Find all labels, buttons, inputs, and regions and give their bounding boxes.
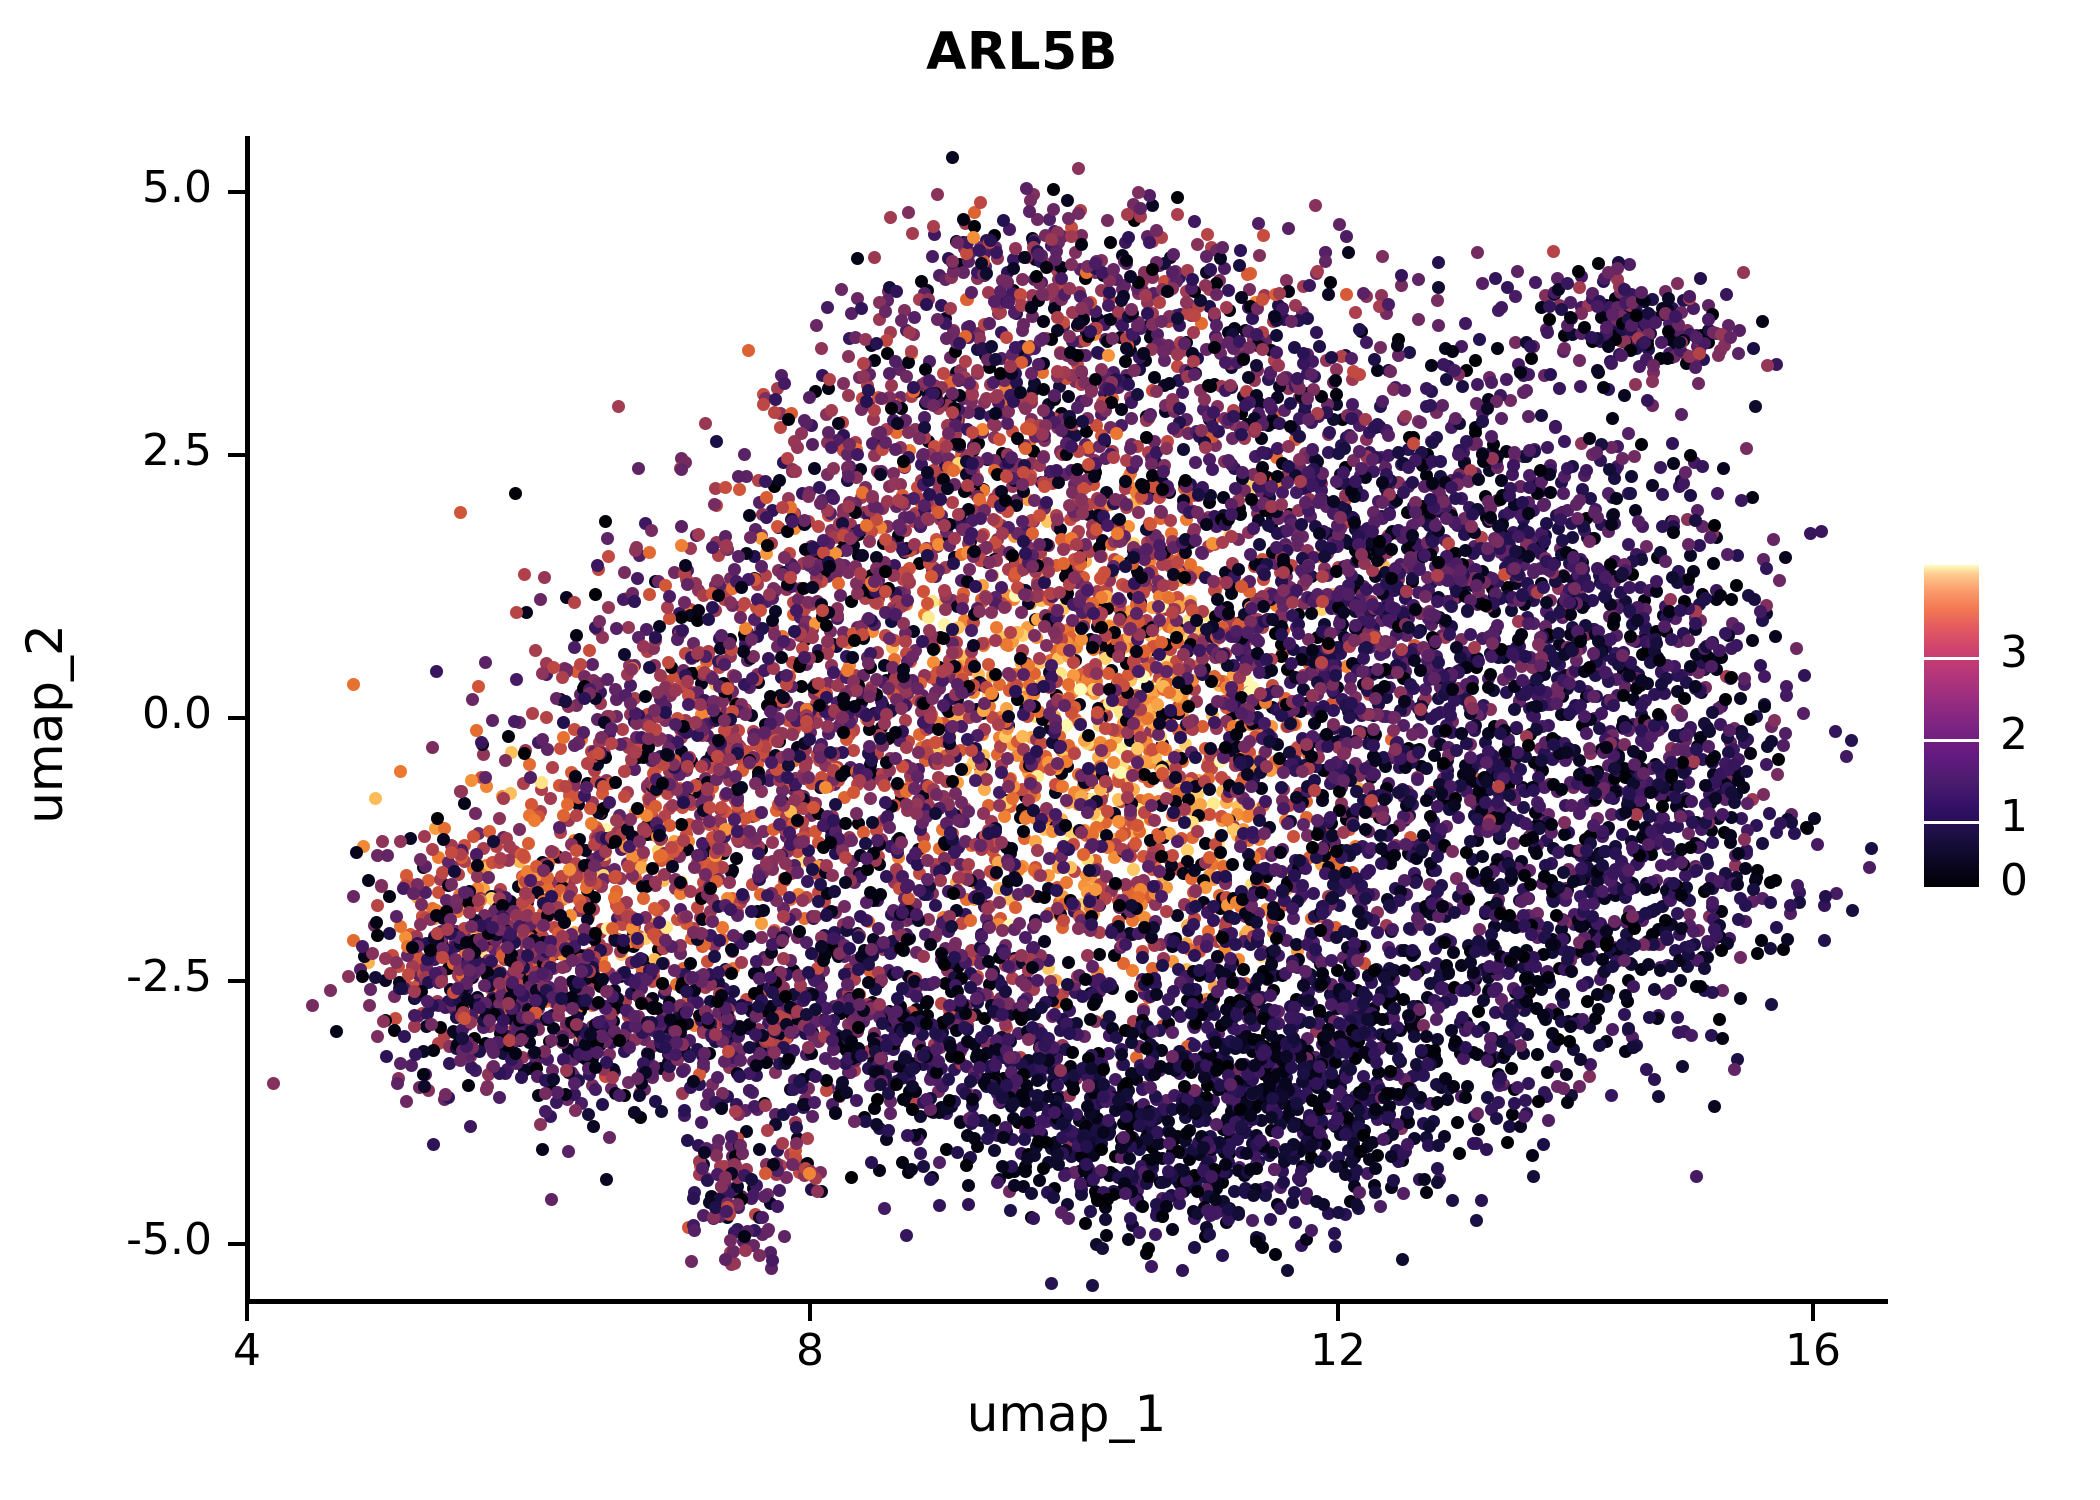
- scatter-point: [481, 1080, 494, 1093]
- scatter-point: [678, 1104, 691, 1117]
- scatter-point: [566, 1002, 579, 1015]
- scatter-point: [381, 849, 394, 862]
- scatter-point: [1006, 549, 1019, 562]
- scatter-point: [342, 970, 355, 983]
- scatter-point: [681, 760, 694, 773]
- scatter-point: [712, 842, 725, 855]
- scatter-point: [1129, 837, 1142, 850]
- scatter-point: [1215, 829, 1228, 842]
- scatter-point: [842, 916, 855, 929]
- scatter-point: [1034, 869, 1047, 882]
- scatter-point: [589, 927, 602, 940]
- scatter-point: [1068, 747, 1081, 760]
- scatter-point: [522, 937, 535, 950]
- scatter-point: [1013, 917, 1026, 930]
- scatter-point: [802, 1041, 815, 1054]
- scatter-point: [521, 949, 534, 962]
- scatter-point: [990, 621, 1003, 634]
- scatter-point: [839, 817, 852, 830]
- scatter-point: [727, 929, 740, 942]
- scatter-point: [559, 851, 572, 864]
- scatter-point: [589, 1061, 602, 1074]
- scatter-point: [929, 807, 942, 820]
- scatter-point: [684, 885, 697, 898]
- scatter-point: [648, 902, 661, 915]
- scatter-point: [961, 733, 974, 746]
- scatter-point: [577, 933, 590, 946]
- scatter-point: [819, 1014, 832, 1027]
- scatter-point: [427, 1138, 440, 1151]
- scatter-point: [347, 678, 360, 691]
- scatter-point: [1042, 565, 1055, 578]
- scatter-point: [730, 852, 743, 865]
- scatter-point: [465, 920, 478, 933]
- scatter-point: [511, 961, 524, 974]
- scatter-point: [779, 990, 792, 1003]
- scatter-point: [551, 1086, 564, 1099]
- scatter-point: [996, 527, 1009, 540]
- scatter-point: [391, 1077, 404, 1090]
- scatter-point: [394, 765, 407, 778]
- scatter-point: [847, 744, 860, 757]
- scatter-point: [1006, 792, 1019, 805]
- scatter-point: [712, 966, 725, 979]
- scatter-point: [580, 781, 593, 794]
- scatter-point: [1040, 496, 1053, 509]
- scatter-point: [835, 769, 848, 782]
- scatter-point: [782, 1053, 795, 1066]
- scatter-point: [1084, 1013, 1097, 1026]
- scatter-point: [977, 807, 990, 820]
- scatter-point: [749, 777, 762, 790]
- scatter-point: [733, 483, 746, 496]
- scatter-point: [1016, 515, 1029, 528]
- scatter-point: [687, 926, 700, 939]
- scatter-point: [377, 1015, 390, 1028]
- scatter-point: [865, 754, 878, 767]
- scatter-point: [487, 835, 500, 848]
- scatter-point: [383, 927, 396, 940]
- scatter-point: [487, 1060, 500, 1073]
- scatter-point: [825, 404, 838, 417]
- scatter-point: [739, 812, 752, 825]
- scatter-point: [743, 930, 756, 943]
- scatter-point: [613, 1034, 626, 1047]
- scatter-point: [902, 206, 915, 219]
- scatter-point: [912, 746, 925, 759]
- scatter-point: [955, 763, 968, 776]
- scatter-point: [809, 1070, 822, 1083]
- scatter-point: [1131, 819, 1144, 832]
- scatter-point: [454, 1054, 467, 1067]
- scatter-point: [603, 1131, 616, 1144]
- scatter-point: [872, 922, 885, 935]
- scatter-point: [909, 847, 922, 860]
- scatter-point: [675, 818, 688, 831]
- scatter-point: [1012, 888, 1025, 901]
- scatter-point: [528, 814, 541, 827]
- scatter-point: [568, 1077, 581, 1090]
- scatter-point: [735, 1002, 748, 1015]
- scatter-point: [1033, 820, 1046, 833]
- scatter-point: [796, 894, 809, 907]
- scatter-point: [1009, 901, 1022, 914]
- scatter-point: [1091, 706, 1104, 719]
- scatter-point: [462, 1079, 475, 1092]
- scatter-point: [596, 1098, 609, 1111]
- scatter-point: [1016, 730, 1029, 743]
- scatter-point: [853, 998, 866, 1011]
- scatter-point: [981, 902, 994, 915]
- scatter-point: [829, 798, 842, 811]
- scatter-point: [901, 933, 914, 946]
- scatter-point: [537, 864, 550, 877]
- scatter-point: [1075, 493, 1088, 506]
- scatter-point: [383, 890, 396, 903]
- scatter-point: [522, 837, 535, 850]
- scatter-point: [653, 916, 666, 929]
- scatter-point: [752, 870, 765, 883]
- scatter-point: [972, 892, 985, 905]
- scatter-point: [745, 905, 758, 918]
- scatter-point: [1031, 844, 1044, 857]
- scatter-point: [609, 972, 622, 985]
- scatter-point: [1082, 762, 1095, 775]
- scatter-point: [683, 1050, 696, 1063]
- scatter-point: [439, 1088, 452, 1101]
- scatter-point: [486, 921, 499, 934]
- scatter-point: [418, 830, 431, 843]
- scatter-point: [913, 884, 926, 897]
- scatter-point: [701, 782, 714, 795]
- scatter-point: [929, 736, 942, 749]
- scatter-point: [405, 1059, 418, 1072]
- scatter-point: [364, 983, 377, 996]
- scatter-point: [917, 950, 930, 963]
- scatter-point: [500, 832, 513, 845]
- scatter-point: [1150, 661, 1163, 674]
- scatter-point: [633, 1089, 646, 1102]
- scatter-point: [455, 785, 468, 798]
- scatter-point: [998, 947, 1011, 960]
- scatter-point: [554, 976, 567, 989]
- scatter-point: [815, 342, 828, 355]
- scatter-point: [665, 841, 678, 854]
- scatter-point: [691, 849, 704, 862]
- scatter-point: [962, 858, 975, 871]
- scatter-point: [596, 973, 609, 986]
- scatter-point: [1046, 984, 1059, 997]
- scatter-point: [425, 1018, 438, 1031]
- scatter-point: [1163, 377, 1176, 390]
- scatter-point: [371, 1030, 384, 1043]
- scatter-point: [583, 902, 596, 915]
- scatter-point: [1057, 861, 1070, 874]
- scatter-point: [1166, 849, 1179, 862]
- scatter-point: [795, 427, 808, 440]
- scatter-point: [1126, 769, 1139, 782]
- scatter-point: [484, 1038, 497, 1051]
- scatter-point: [465, 774, 478, 787]
- scatter-point: [1124, 442, 1137, 455]
- scatter-point: [1146, 624, 1159, 637]
- scatter-point: [910, 908, 923, 921]
- scatter-point: [655, 1105, 668, 1118]
- scatter-point: [860, 852, 873, 865]
- scatter-point: [458, 797, 471, 810]
- scatter-point: [731, 794, 744, 807]
- plot-area: [245, 140, 1888, 1300]
- scatter-point: [493, 1091, 506, 1104]
- scatter-point: [845, 834, 858, 847]
- scatter-point: [776, 934, 789, 947]
- scatter-point: [556, 930, 569, 943]
- scatter-point: [1062, 390, 1075, 403]
- scatter-point: [847, 786, 860, 799]
- scatter-point: [703, 815, 716, 828]
- scatter-point: [1045, 659, 1058, 672]
- scatter-point: [1086, 641, 1099, 654]
- scatter-point: [854, 910, 867, 923]
- scatter-point: [975, 930, 988, 943]
- scatter-point: [728, 813, 741, 826]
- scatter-point: [1050, 884, 1063, 897]
- scatter-point: [878, 779, 891, 792]
- scatter-point: [900, 881, 913, 894]
- scatter-point: [1156, 767, 1169, 780]
- scatter-point: [493, 977, 506, 990]
- scatter-point: [734, 1054, 747, 1067]
- scatter-point: [628, 1106, 641, 1119]
- scatter-point: [1253, 249, 1266, 262]
- scatter-point: [493, 812, 506, 825]
- scatter-point: [1001, 752, 1014, 765]
- scatter-point: [852, 1021, 865, 1034]
- scatter-point: [371, 899, 384, 912]
- scatter-point: [996, 924, 1009, 937]
- scatter-point: [852, 931, 865, 944]
- scatter-point: [1051, 902, 1064, 915]
- scatter-point: [824, 836, 837, 849]
- scatter-point: [980, 773, 993, 786]
- scatter-point: [324, 984, 337, 997]
- scatter-point: [347, 890, 360, 903]
- scatter-point: [398, 1030, 411, 1043]
- scatter-point: [734, 1023, 747, 1036]
- scatter-point: [1153, 830, 1166, 843]
- scatter-point: [464, 1120, 477, 1133]
- scatter-point: [766, 836, 779, 849]
- scatter-point: [793, 925, 806, 938]
- scatter-point: [602, 601, 615, 614]
- scatter-point: [1127, 717, 1140, 730]
- scatter-point: [562, 1145, 575, 1158]
- scatter-point: [1119, 475, 1132, 488]
- scatter-point: [1033, 652, 1046, 665]
- scatter-point: [761, 889, 774, 902]
- scatter-point: [838, 900, 851, 913]
- scatter-point: [757, 904, 770, 917]
- scatter-point: [653, 850, 666, 863]
- scatter-point: [710, 435, 723, 448]
- scatter-point: [686, 971, 699, 984]
- scatter-point: [584, 1028, 597, 1041]
- scatter-point: [526, 707, 539, 720]
- scatter-point: [1075, 826, 1088, 839]
- scatter-point: [408, 1009, 421, 1022]
- scatter-point: [637, 892, 650, 905]
- scatter-point: [839, 851, 852, 864]
- scatter-point: [606, 1071, 619, 1084]
- scatter-point: [1127, 863, 1140, 876]
- scatter-point: [801, 875, 814, 888]
- scatter-point: [821, 720, 834, 733]
- scatter-point: [666, 860, 679, 873]
- scatter-point: [646, 963, 659, 976]
- scatter-point: [865, 943, 878, 956]
- scatter-point: [1017, 825, 1030, 838]
- scatter-point: [1214, 846, 1227, 859]
- scatter-point: [920, 997, 933, 1010]
- scatter-point: [803, 733, 816, 746]
- scatter-point: [1102, 667, 1115, 680]
- scatter-point: [755, 917, 768, 930]
- scatter-point: [637, 846, 650, 859]
- scatter-points-layer: [245, 140, 1888, 1300]
- scatter-point: [350, 846, 363, 859]
- scatter-point: [752, 1000, 765, 1013]
- scatter-point: [1124, 804, 1137, 817]
- scatter-point: [513, 984, 526, 997]
- scatter-point: [536, 1143, 549, 1156]
- scatter-point: [895, 836, 908, 849]
- scatter-point: [1082, 729, 1095, 742]
- scatter-point: [877, 936, 890, 949]
- scatter-point: [874, 888, 887, 901]
- scatter-point: [618, 790, 631, 803]
- scatter-point: [522, 1011, 535, 1024]
- scatter-point: [896, 906, 909, 919]
- scatter-point: [945, 920, 958, 933]
- scatter-point: [617, 934, 630, 947]
- scatter-point: [713, 830, 726, 843]
- scatter-point: [766, 986, 779, 999]
- scatter-point: [1043, 707, 1056, 720]
- scatter-point: [1038, 891, 1051, 904]
- scatter-point: [952, 871, 965, 884]
- scatter-point: [962, 805, 975, 818]
- scatter-point: [1203, 808, 1216, 821]
- scatter-point: [828, 885, 841, 898]
- scatter-point: [781, 771, 794, 784]
- scatter-point: [1002, 780, 1015, 793]
- scatter-point: [723, 876, 736, 889]
- scatter-point: [1001, 417, 1014, 430]
- scatter-point: [786, 728, 799, 741]
- page-title: ARL5B: [0, 22, 2072, 82]
- scatter-point: [653, 1030, 666, 1043]
- scatter-point: [704, 882, 717, 895]
- scatter-point: [1033, 509, 1046, 522]
- scatter-point: [711, 995, 724, 1008]
- scatter-point: [828, 1057, 841, 1070]
- scatter-point: [954, 994, 967, 1007]
- scatter-point: [400, 1095, 413, 1108]
- scatter-point: [968, 660, 981, 673]
- scatter-point: [628, 1010, 641, 1023]
- scatter-point: [497, 1014, 510, 1027]
- scatter-point: [1191, 825, 1204, 838]
- scatter-point: [628, 976, 641, 989]
- scatter-point: [691, 819, 704, 832]
- scatter-point: [866, 816, 879, 829]
- scatter-point: [713, 934, 726, 947]
- scatter-point: [891, 777, 904, 790]
- scatter-point: [670, 1036, 683, 1049]
- scatter-point: [418, 1080, 431, 1093]
- scatter-point: [1093, 948, 1106, 961]
- scatter-point: [1029, 918, 1042, 931]
- scatter-point: [517, 849, 530, 862]
- scatter-point: [1105, 926, 1118, 939]
- scatter-point: [738, 448, 751, 461]
- scatter-point: [363, 999, 376, 1012]
- scatter-point: [815, 940, 828, 953]
- scatter-point: [1038, 935, 1051, 948]
- scatter-point: [483, 1014, 496, 1027]
- scatter-point: [684, 957, 697, 970]
- scatter-point: [642, 1020, 655, 1033]
- scatter-point: [306, 999, 319, 1012]
- scatter-point: [591, 1046, 604, 1059]
- figure-canvas: ARL5B 5.02.50.0-2.5-5.0 481216 umap_1 um…: [0, 0, 2100, 1500]
- scatter-point: [969, 774, 982, 787]
- scatter-point: [1148, 814, 1161, 827]
- scatter-point: [839, 876, 852, 889]
- scatter-point: [547, 1073, 560, 1086]
- scatter-point: [1062, 956, 1075, 969]
- scatter-point: [699, 417, 712, 430]
- scatter-point: [592, 1016, 605, 1029]
- scatter-point: [820, 909, 833, 922]
- scatter-point: [742, 344, 755, 357]
- scatter-point: [708, 950, 721, 963]
- scatter-point: [768, 1046, 781, 1059]
- scatter-point: [267, 1077, 280, 1090]
- scatter-point: [515, 1071, 528, 1084]
- scatter-point: [743, 825, 756, 838]
- scatter-point: [791, 814, 804, 827]
- scatter-point: [993, 896, 1006, 909]
- scatter-point: [1052, 476, 1065, 489]
- scatter-point: [1151, 698, 1164, 711]
- scatter-point: [1189, 885, 1202, 898]
- scatter-point: [1059, 819, 1072, 832]
- scatter-point: [587, 1120, 600, 1133]
- scatter-point: [1074, 683, 1087, 696]
- scatter-point: [921, 873, 934, 886]
- scatter-point: [560, 1064, 573, 1077]
- scatter-point: [724, 903, 737, 916]
- scatter-point: [1132, 506, 1145, 519]
- scatter-point: [843, 942, 856, 955]
- scatter-point: [677, 834, 690, 847]
- scatter-point: [600, 1173, 613, 1186]
- scatter-point: [582, 1108, 595, 1121]
- scatter-point: [946, 775, 959, 788]
- scatter-point: [1057, 543, 1070, 556]
- scatter-point: [1090, 667, 1103, 680]
